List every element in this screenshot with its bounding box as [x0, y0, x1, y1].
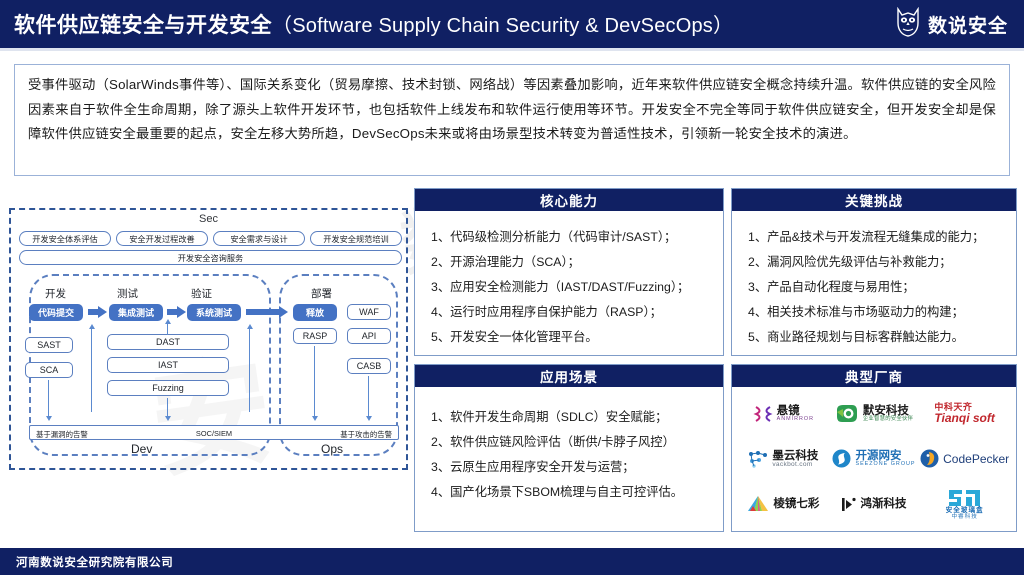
codepecker-logo-icon [920, 449, 939, 468]
flow-arrow-long-icon [279, 306, 288, 318]
connector-arrow-icon [46, 416, 52, 421]
list-item: 1、软件开发生命周期（SDLC）安全赋能； [431, 405, 709, 430]
tool-box-rasp: RASP [293, 328, 337, 344]
hongjian-logo-icon [841, 496, 856, 513]
list-item: 5、商业路径规划与目标客群触达能力。 [748, 325, 1002, 350]
vendor-name-cn: 棱镜七彩 [773, 498, 819, 510]
vendor-grid: 悬镜 ANMIRROR 默安科技 企业智慧的安全伙伴 [732, 387, 1016, 529]
flow-box-integration-test: 集成测试 [109, 304, 163, 321]
kaiyuan-logo-icon [832, 449, 851, 468]
devsecops-diagram: Sec 开发安全体系评估 安全开发过程改善 安全需求与设计 开发安全规范培训 开… [9, 208, 408, 470]
vendor-name-cn: CodePecker [943, 452, 1009, 466]
list-item: 5、开发安全一体化管理平台。 [431, 325, 709, 350]
connector-arrow-icon [165, 416, 171, 421]
tool-box-waf: WAF [347, 304, 391, 320]
flow-arrow-long-icon [246, 309, 279, 315]
panel-title: 核心能力 [415, 189, 723, 211]
vendor-name-en: ANMIRROR [777, 417, 814, 423]
connector-line [249, 328, 250, 412]
list-item: 2、开源治理能力（SCA）； [431, 250, 709, 275]
vendor-text: 安全玻璃盒 中睿科技 [946, 488, 984, 521]
connector-line [91, 328, 92, 412]
panel-typical-vendors: 典型厂商 悬镜 ANMIRROR [731, 364, 1017, 532]
anquanbolihe-logo-icon [946, 488, 984, 508]
vendor-name-en: 企业智慧的安全伙伴 [863, 417, 913, 423]
panel-application-scenarios: 应用场景 1、软件开发生命周期（SDLC）安全赋能； 2、软件供应链风险评估（断… [414, 364, 724, 532]
vendor-item: 悬镜 ANMIRROR [738, 391, 829, 436]
vendor-text: 默安科技 企业智慧的安全伙伴 [863, 405, 913, 423]
panel-title: 应用场景 [415, 365, 723, 387]
connector-line [167, 398, 168, 418]
vendor-name-en: SEEZONE GROUP [855, 462, 915, 468]
list-item: 4、运行时应用程序自保护能力（RASP）； [431, 300, 709, 325]
panel-title: 关键挑战 [732, 189, 1016, 211]
sec-pill-row: 开发安全体系评估 安全开发过程改善 安全需求与设计 开发安全规范培训 [19, 231, 402, 246]
sec-consulting-bar: 开发安全咨询服务 [19, 250, 402, 265]
flow-box-system-test: 系统测试 [187, 304, 241, 321]
vendor-text: 鸿渐科技 [860, 498, 906, 510]
footer-company: 河南数说安全研究院有限公司 [16, 554, 173, 570]
tool-box-iast: IAST [107, 357, 229, 373]
brand-logo: 数说安全 [895, 7, 1008, 42]
vendor-item: CodePecker [919, 436, 1010, 481]
diagram-sec-label: Sec [11, 213, 406, 225]
vendor-name-en: vackbot.com [772, 462, 818, 469]
sec-pill: 安全需求与设计 [213, 231, 305, 246]
connector-arrow-icon [247, 324, 253, 329]
page-footer: 河南数说安全研究院有限公司 [0, 548, 1024, 575]
flow-box-commit: 代码提交 [29, 304, 83, 321]
brand-name: 数说安全 [928, 11, 1008, 38]
connector-arrow-icon [366, 416, 372, 421]
list-item: 1、代码级检测分析能力（代码审计/SAST）； [431, 225, 709, 250]
connector-arrow-icon [89, 324, 95, 329]
stage-label-verify: 验证 [191, 286, 212, 301]
sec-pill: 开发安全体系评估 [19, 231, 111, 246]
soc-siem-label: SOC/SIEM [196, 429, 232, 438]
tool-box-casb: CASB [347, 358, 391, 374]
vendor-name-cn: 墨云科技 [772, 450, 818, 462]
ops-label: Ops [321, 442, 343, 456]
vendor-name-en: 中睿科技 [951, 515, 977, 521]
flow-arrow-icon [98, 306, 107, 318]
vendor-text: 开源网安 SEEZONE GROUP [855, 450, 915, 468]
dev-label: Dev [131, 442, 152, 456]
panel-body: 1、代码级检测分析能力（代码审计/SAST）； 2、开源治理能力（SCA）； 3… [415, 211, 723, 358]
vendor-name-cn: 鸿渐科技 [860, 498, 906, 510]
list-item: 3、产品自动化程度与易用性； [748, 275, 1002, 300]
tool-box-sast: SAST [25, 337, 73, 353]
vendor-item: 默安科技 企业智慧的安全伙伴 [829, 391, 920, 436]
owl-icon [895, 7, 921, 42]
panel-core-capabilities: 核心能力 1、代码级检测分析能力（代码审计/SAST）； 2、开源治理能力（SC… [414, 188, 724, 356]
connector-line [167, 323, 168, 335]
connector-arrow-icon [165, 319, 171, 324]
vendor-text: 中科天齐 Tianqi soft [934, 403, 994, 425]
xuanjing-logo-icon [753, 404, 773, 424]
vendor-name-en: Tianqi soft [934, 412, 994, 425]
vendor-item: 安全玻璃盒 中睿科技 [919, 482, 1010, 527]
list-item: 4、相关技术标准与市场驱动力的构建； [748, 300, 1002, 325]
flow-box-release: 释放 [293, 304, 337, 321]
vendor-text: 棱镜七彩 [773, 498, 819, 510]
vendor-item: 中科天齐 Tianqi soft [919, 391, 1010, 436]
stage-label-test: 测试 [117, 286, 138, 301]
vendor-text: 墨云科技 vackbot.com [772, 450, 818, 469]
soc-alert-attack-label: 基于攻击的告警 [340, 429, 392, 440]
vendor-item: 开源网安 SEEZONE GROUP [829, 436, 920, 481]
list-item: 3、应用安全检测能力（IAST/DAST/Fuzzing）； [431, 275, 709, 300]
lengjing-logo-icon [747, 495, 769, 513]
connector-line [368, 376, 369, 418]
connector-arrow-icon [312, 416, 318, 421]
flow-arrow-icon [177, 306, 186, 318]
moyun-logo-icon [748, 450, 768, 468]
vendor-item: 棱镜七彩 [738, 482, 829, 527]
sec-pill: 开发安全规范培训 [310, 231, 402, 246]
slide-page: 数说 安 软件供应链安全与开发安全 （Software Supply Chain… [0, 0, 1024, 575]
list-item: 4、国产化场景下SBOM梳理与自主可控评估。 [431, 480, 709, 505]
moan-logo-icon [835, 404, 859, 423]
page-title: 软件供应链安全与开发安全 （Software Supply Chain Secu… [14, 9, 733, 39]
list-item: 3、云原生应用程序安全开发与运营； [431, 455, 709, 480]
tool-box-api: API [347, 328, 391, 344]
intro-box: 受事件驱动（SolarWinds事件等）、国际关系变化（贸易摩擦、技术封锁、网络… [14, 64, 1010, 176]
vendor-item: 墨云科技 vackbot.com [738, 436, 829, 481]
soc-alert-vuln-label: 基于漏洞的告警 [36, 429, 88, 440]
connector-line [48, 380, 49, 418]
page-title-en: （Software Supply Chain Security & DevSec… [272, 9, 733, 38]
flow-arrow-icon [167, 309, 177, 315]
list-item: 1、产品&技术与开发流程无缝集成的能力； [748, 225, 1002, 250]
panel-body: 1、软件开发生命周期（SDLC）安全赋能； 2、软件供应链风险评估（断供/卡脖子… [415, 387, 723, 513]
panel-key-challenges: 关键挑战 1、产品&技术与开发流程无缝集成的能力； 2、漏洞风险优先级评估与补救… [731, 188, 1017, 356]
stage-label-dev: 开发 [45, 286, 66, 301]
connector-line [314, 346, 315, 418]
tool-box-fuzzing: Fuzzing [107, 380, 229, 396]
stage-label-deploy: 部署 [311, 286, 332, 301]
header-divider [0, 48, 1024, 51]
tool-box-dast: DAST [107, 334, 229, 350]
vendor-text: 悬镜 ANMIRROR [777, 405, 814, 423]
sec-pill: 安全开发过程改善 [116, 231, 208, 246]
panel-body: 1、产品&技术与开发流程无缝集成的能力； 2、漏洞风险优先级评估与补救能力； 3… [732, 211, 1016, 358]
tool-box-sca: SCA [25, 362, 73, 378]
list-item: 2、漏洞风险优先级评估与补救能力； [748, 250, 1002, 275]
flow-arrow-icon [88, 309, 98, 315]
list-item: 2、软件供应链风险评估（断供/卡脖子风控） [431, 430, 709, 455]
page-title-cn: 软件供应链安全与开发安全 [14, 9, 272, 39]
soc-siem-bar: 基于漏洞的告警 SOC/SIEM 基于攻击的告警 [29, 425, 399, 440]
intro-text: 受事件驱动（SolarWinds事件等）、国际关系变化（贸易摩擦、技术封锁、网络… [28, 73, 996, 147]
vendor-item: 鸿渐科技 [829, 482, 920, 527]
page-header: 软件供应链安全与开发安全 （Software Supply Chain Secu… [0, 0, 1024, 48]
panel-title: 典型厂商 [732, 365, 1016, 387]
